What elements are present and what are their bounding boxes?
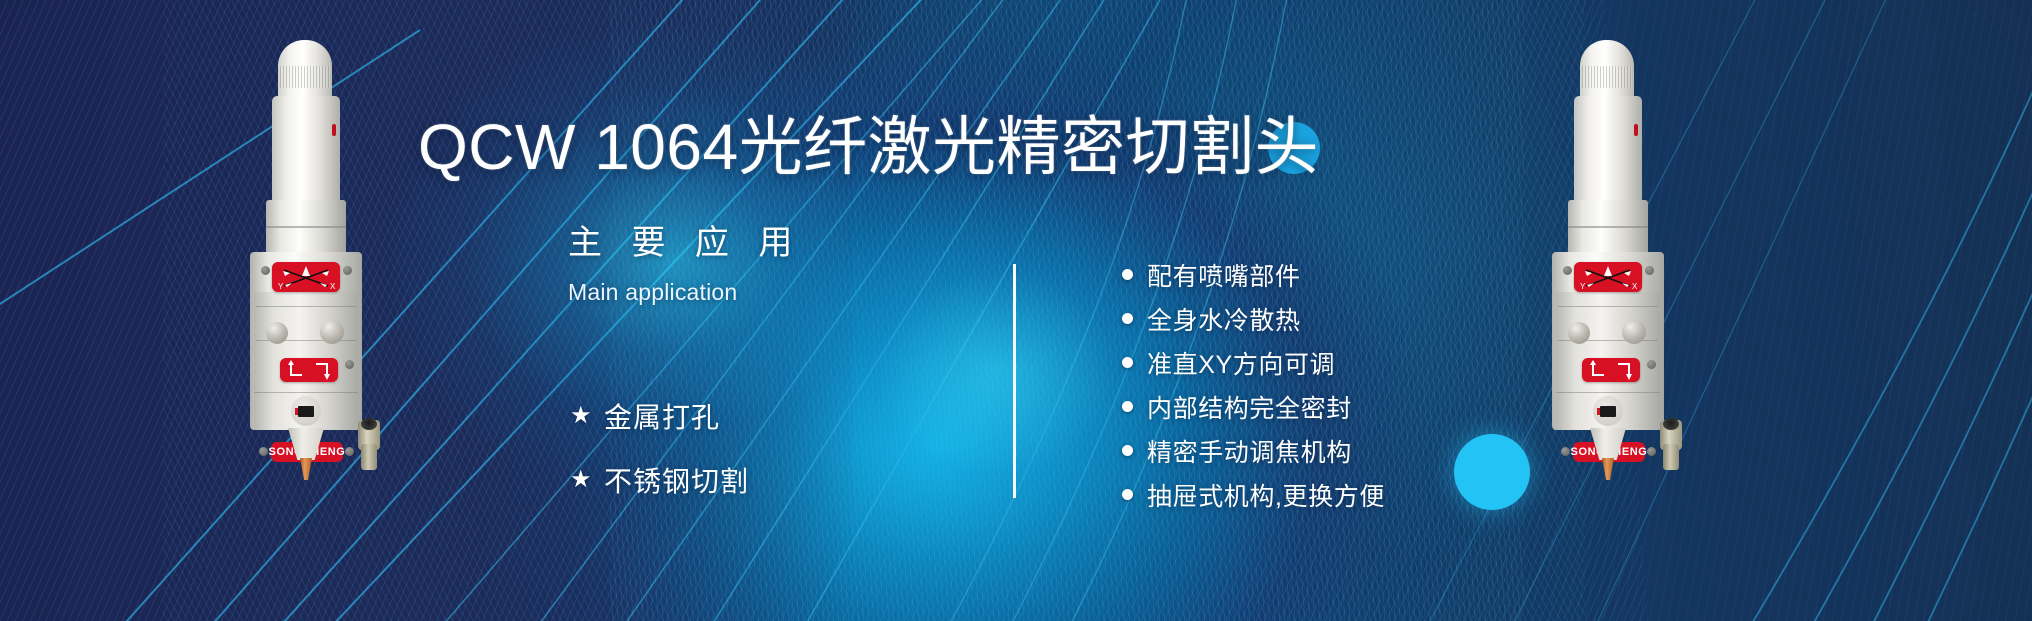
body-seam-bottom xyxy=(254,392,358,393)
star-icon: ★ xyxy=(570,404,604,428)
feature-item-label: 抽屉式机构,更换方便 xyxy=(1147,477,1385,513)
fitting-port xyxy=(361,418,377,430)
application-heading-en: Main application xyxy=(568,279,802,306)
indicator-window xyxy=(291,396,321,426)
cap-knurl xyxy=(280,66,330,88)
feature-item-label: 准直XY方向可调 xyxy=(1147,345,1335,381)
feature-item: 抽屉式机构,更换方便 xyxy=(1122,478,1385,511)
feature-item-label: 精密手动调焦机构 xyxy=(1147,433,1352,469)
application-item: ★ 金属打孔 xyxy=(570,396,749,436)
feature-item: 准直XY方向可调 xyxy=(1122,346,1385,379)
drawer-arrow-icon xyxy=(1582,358,1640,382)
screw-top-right xyxy=(343,266,352,275)
indicator-chip xyxy=(1600,406,1616,417)
feature-item: 精密手动调焦机构 xyxy=(1122,434,1385,467)
axis-label-y: Y xyxy=(1580,282,1586,291)
xy-axis-icon: Y X xyxy=(272,262,340,292)
collar-seam xyxy=(1568,226,1648,228)
screw-top-left xyxy=(261,266,270,275)
feature-item: 配有喷嘴部件 xyxy=(1122,258,1385,291)
cyan-circle-bottom xyxy=(1454,434,1530,510)
adjust-knob-right xyxy=(320,320,344,344)
axis-adjust-label: Y X xyxy=(1574,262,1642,292)
star-icon: ★ xyxy=(570,468,604,492)
bullet-dot-icon xyxy=(1122,401,1133,412)
feature-list: 配有喷嘴部件 全身水冷散热 准直XY方向可调 内部结构完全密封 精密手动调焦机构… xyxy=(1122,258,1385,522)
feature-item: 内部结构完全密封 xyxy=(1122,390,1385,423)
upper-tube xyxy=(1574,96,1642,204)
xy-axis-icon: Y X xyxy=(1574,262,1642,292)
indicator-window xyxy=(1593,396,1623,426)
feature-item-label: 配有喷嘴部件 xyxy=(1147,257,1301,293)
banner-title: QCW 1064光纤激光精密切割头 xyxy=(418,96,1319,188)
screw-mid-right xyxy=(1647,360,1656,369)
screw-brand-right xyxy=(1647,447,1656,456)
promo-banner: Y X SONGSHENG xyxy=(0,0,2032,621)
laser-head-left: Y X SONGSHENG xyxy=(250,40,362,480)
feature-item-label: 内部结构完全密封 xyxy=(1147,389,1352,425)
feature-item: 全身水冷散热 xyxy=(1122,302,1385,335)
axis-label-x: X xyxy=(330,282,336,291)
nozzle-tip xyxy=(1602,458,1614,480)
drawer-direction-label xyxy=(280,358,338,382)
application-heading-block: 主 要 应 用 Main application xyxy=(568,222,802,306)
body-seam-bottom xyxy=(1556,392,1660,393)
bullet-dot-icon xyxy=(1122,445,1133,456)
drawer-arrow-icon xyxy=(280,358,338,382)
application-item: ★ 不锈钢切割 xyxy=(570,460,749,500)
application-item-label: 金属打孔 xyxy=(604,396,720,436)
bullet-dot-icon xyxy=(1122,313,1133,324)
axis-label-x: X xyxy=(1632,282,1638,291)
application-list: ★ 金属打孔 ★ 不锈钢切割 xyxy=(570,396,749,524)
adjust-knob-left xyxy=(1568,322,1590,344)
cap-knurl xyxy=(1582,66,1632,88)
screw-brand-left xyxy=(259,447,268,456)
indicator-chip xyxy=(298,406,314,417)
collar xyxy=(266,200,346,256)
feature-item-label: 全身水冷散热 xyxy=(1147,301,1301,337)
screw-mid-right xyxy=(345,360,354,369)
tube-red-marker xyxy=(332,124,336,136)
upper-tube xyxy=(272,96,340,204)
screw-top-right xyxy=(1645,266,1654,275)
axis-adjust-label: Y X xyxy=(272,262,340,292)
vertical-divider xyxy=(1013,264,1016,498)
screw-brand-left xyxy=(1561,447,1570,456)
collar xyxy=(1568,200,1648,256)
screw-top-left xyxy=(1563,266,1572,275)
body-seam-upper xyxy=(1558,306,1658,307)
tube-red-marker xyxy=(1634,124,1638,136)
bullet-dot-icon xyxy=(1122,269,1133,280)
collar-seam xyxy=(266,226,346,228)
bullet-dot-icon xyxy=(1122,357,1133,368)
adjust-knob-left xyxy=(266,322,288,344)
laser-head-right: Y X SONGSHENG xyxy=(1552,40,1664,480)
bullet-dot-icon xyxy=(1122,489,1133,500)
application-heading-cn: 主 要 应 用 xyxy=(568,222,802,265)
body-seam-upper xyxy=(256,306,356,307)
application-item-label: 不锈钢切割 xyxy=(604,460,749,500)
drawer-direction-label xyxy=(1582,358,1640,382)
fitting-port xyxy=(1663,418,1679,430)
adjust-knob-right xyxy=(1622,320,1646,344)
screw-brand-right xyxy=(345,447,354,456)
fitting-elbow xyxy=(1663,444,1679,470)
nozzle-tip xyxy=(300,458,312,480)
fitting-elbow xyxy=(361,444,377,470)
axis-label-y: Y xyxy=(278,282,284,291)
